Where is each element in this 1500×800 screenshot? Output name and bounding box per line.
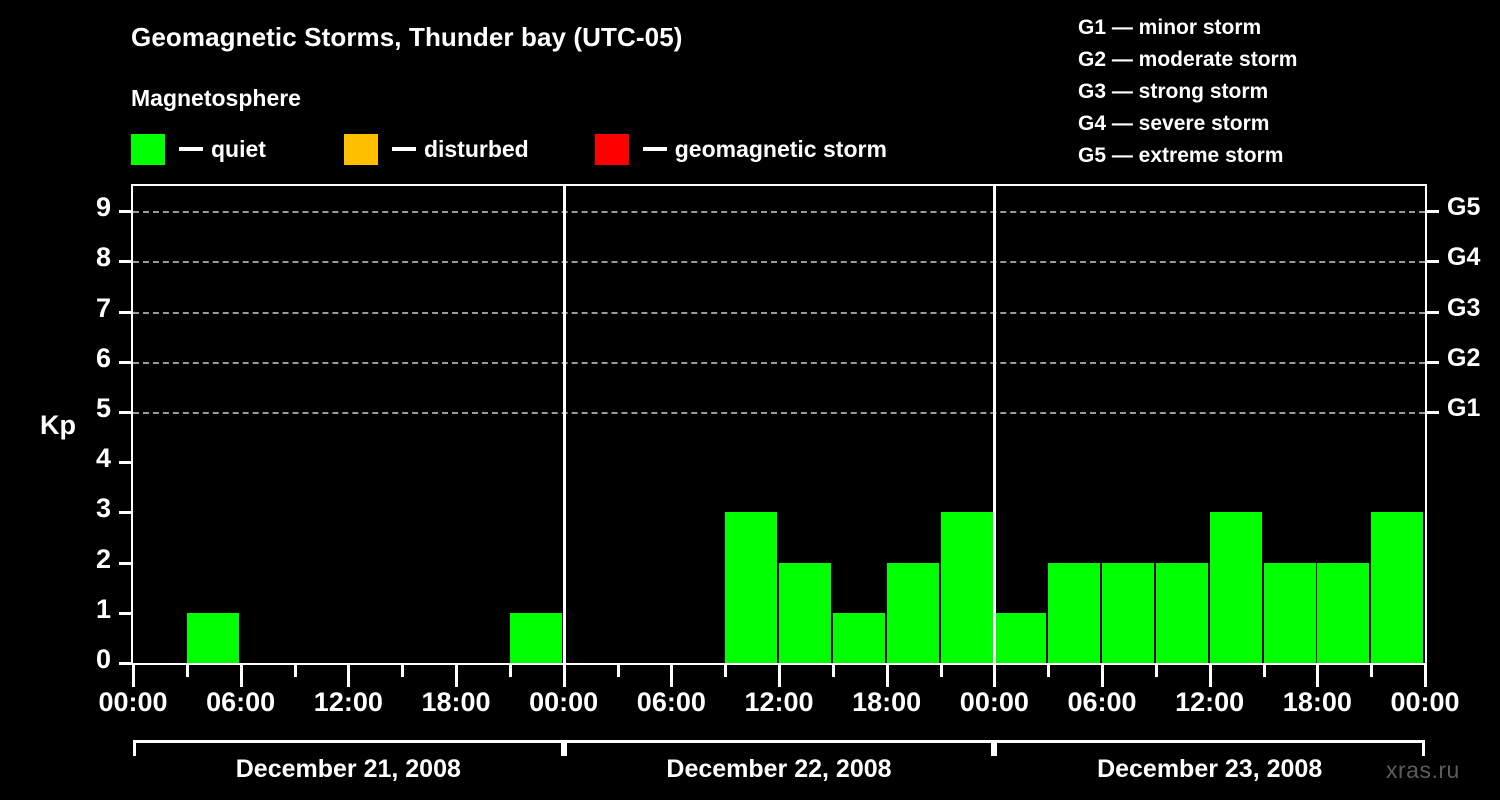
bar: [1156, 563, 1208, 663]
g-label-G3: G3: [1447, 294, 1480, 323]
x-tick-minor-11: [724, 665, 727, 677]
bar: [187, 613, 239, 663]
bar: [887, 563, 939, 663]
legend-label-disturbed: disturbed: [424, 136, 529, 163]
y-tick-2: [119, 562, 131, 565]
y-tick-label-5: 5: [69, 393, 111, 424]
date-bracket-3: [994, 740, 1425, 756]
y-tick-label-3: 3: [69, 493, 111, 524]
gridline-kp-7: [133, 312, 1425, 314]
x-tick-major-24: [1424, 665, 1427, 687]
x-tick-minor-15: [940, 665, 943, 677]
legend-dash-icon: [392, 147, 416, 151]
y-tick-label-2: 2: [69, 544, 111, 575]
y-tick-label-0: 0: [69, 644, 111, 675]
x-tick-minor-21: [1263, 665, 1266, 677]
x-tick-major-20: [1209, 665, 1212, 687]
g-tick-G2: [1427, 361, 1439, 364]
y-tick-8: [119, 260, 131, 263]
date-bracket-1: [133, 740, 564, 756]
bar: [1317, 563, 1369, 663]
g-scale-legend: G1 — minor stormG2 — moderate stormG3 — …: [1078, 12, 1297, 172]
y-tick-3: [119, 511, 131, 514]
bar: [833, 613, 885, 663]
legend-dash-icon: [179, 147, 203, 151]
y-tick-label-7: 7: [69, 293, 111, 324]
legend-swatch-quiet: [131, 134, 165, 165]
y-tick-label-1: 1: [69, 594, 111, 625]
bar: [1102, 563, 1154, 663]
bar: [994, 613, 1046, 663]
legend-item-disturbed: disturbed: [344, 134, 529, 165]
x-tick-minor-9: [617, 665, 620, 677]
y-tick-5: [119, 411, 131, 414]
y-tick-label-6: 6: [69, 343, 111, 374]
g-tick-G3: [1427, 311, 1439, 314]
y-tick-label-4: 4: [69, 443, 111, 474]
gridline-kp-5: [133, 412, 1425, 414]
bar: [1048, 563, 1100, 663]
legend-item-quiet: quiet: [131, 134, 266, 165]
g-scale-row-4: G4 — severe storm: [1078, 108, 1297, 140]
legend-label-geomagnetic-storm: geomagnetic storm: [675, 136, 887, 163]
y-tick-9: [119, 210, 131, 213]
g-scale-row-3: G3 — strong storm: [1078, 76, 1297, 108]
g-tick-G4: [1427, 260, 1439, 263]
gridline-kp-8: [133, 261, 1425, 263]
x-tick-minor-23: [1370, 665, 1373, 677]
bar: [941, 512, 993, 663]
x-tick-major-10: [670, 665, 673, 687]
gridline-kp-6: [133, 362, 1425, 364]
date-label-2: December 22, 2008: [564, 755, 995, 784]
x-tick-major-4: [347, 665, 350, 687]
g-tick-G1: [1427, 411, 1439, 414]
g-scale-row-5: G5 — extreme storm: [1078, 140, 1297, 172]
x-tick-major-8: [563, 665, 566, 687]
x-tick-minor-1: [186, 665, 189, 677]
activity-legend: quietdisturbedgeomagnetic storm: [131, 133, 887, 165]
x-tick-minor-19: [1155, 665, 1158, 677]
g-label-G4: G4: [1447, 243, 1480, 272]
day-divider-1: [563, 186, 566, 663]
bar: [510, 613, 562, 663]
legend-item-geomagnetic-storm: geomagnetic storm: [595, 134, 887, 165]
x-tick-minor-17: [1047, 665, 1050, 677]
y-tick-7: [119, 311, 131, 314]
geomagnetic-storm-chart: Geomagnetic Storms, Thunder bay (UTC-05)…: [0, 0, 1500, 800]
y-tick-6: [119, 361, 131, 364]
bar: [725, 512, 777, 663]
x-tick-major-6: [455, 665, 458, 687]
day-divider-2: [993, 186, 996, 663]
x-tick-major-14: [886, 665, 889, 687]
y-tick-label-8: 8: [69, 242, 111, 273]
g-label-G5: G5: [1447, 193, 1480, 222]
legend-label-quiet: quiet: [211, 136, 266, 163]
g-label-G2: G2: [1447, 344, 1480, 373]
y-tick-0: [119, 662, 131, 665]
bar: [779, 563, 831, 663]
x-tick-minor-13: [832, 665, 835, 677]
gridline-kp-9: [133, 211, 1425, 213]
bar: [1210, 512, 1262, 663]
y-tick-label-9: 9: [69, 192, 111, 223]
g-scale-row-2: G2 — moderate storm: [1078, 44, 1297, 76]
x-tick-minor-5: [401, 665, 404, 677]
chart-subtitle: Magnetosphere: [131, 85, 301, 112]
legend-swatch-disturbed: [344, 134, 378, 165]
x-tick-major-16: [993, 665, 996, 687]
watermark: xras.ru: [1386, 757, 1460, 784]
date-label-1: December 21, 2008: [133, 755, 564, 784]
legend-dash-icon: [643, 147, 667, 151]
chart-title: Geomagnetic Storms, Thunder bay (UTC-05): [131, 22, 683, 53]
y-tick-1: [119, 612, 131, 615]
x-tick-major-2: [240, 665, 243, 687]
plot-inner: [133, 186, 1425, 663]
x-tick-minor-7: [509, 665, 512, 677]
g-label-G1: G1: [1447, 394, 1480, 423]
date-label-3: December 23, 2008: [994, 755, 1425, 784]
x-tick-major-22: [1316, 665, 1319, 687]
x-tick-major-18: [1101, 665, 1104, 687]
bar: [1264, 563, 1316, 663]
x-tick-minor-3: [294, 665, 297, 677]
legend-swatch-geomagnetic-storm: [595, 134, 629, 165]
plot-area: [131, 184, 1427, 665]
g-scale-row-1: G1 — minor storm: [1078, 12, 1297, 44]
x-tick-major-12: [778, 665, 781, 687]
bar: [1371, 512, 1423, 663]
date-bracket-2: [564, 740, 995, 756]
g-tick-G5: [1427, 210, 1439, 213]
x-tick-major-0: [132, 665, 135, 687]
y-tick-4: [119, 461, 131, 464]
x-tick-label-12: 00:00: [1345, 687, 1500, 718]
